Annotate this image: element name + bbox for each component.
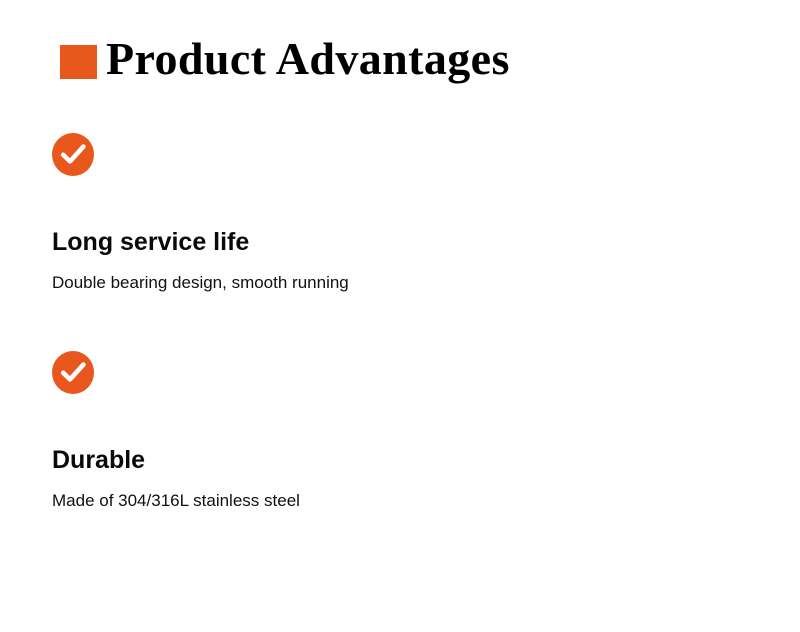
advantages-grid: Long service life Double bearing design,…: [0, 110, 800, 559]
advantage-item-easy-maintenance: Easy maintenance Designed with integrate…: [378, 110, 800, 329]
page-title-row: Product Advantages: [60, 30, 510, 88]
orange-square-icon: [60, 45, 97, 79]
advantages-row: Long service life Double bearing design,…: [0, 110, 800, 329]
advantage-item-complex-working-condition: Complex working condition Protection gra…: [378, 329, 800, 559]
advantage-body: Double bearing design, smooth running: [52, 269, 382, 296]
advantage-heading: Durable: [52, 446, 382, 474]
advantage-body: Made of 304/316L stainless steel: [52, 487, 382, 514]
advantage-heading: Long service life: [52, 228, 382, 256]
advantage-item-long-service-life: Long service life Double bearing design,…: [0, 110, 378, 329]
advantages-row: Durable Made of 304/316L stainless steel…: [0, 329, 800, 559]
check-circle-icon: [52, 133, 94, 176]
advantage-item-durable: Durable Made of 304/316L stainless steel: [0, 329, 378, 559]
check-circle-icon: [52, 351, 94, 394]
page-title: Product Advantages: [106, 36, 510, 82]
